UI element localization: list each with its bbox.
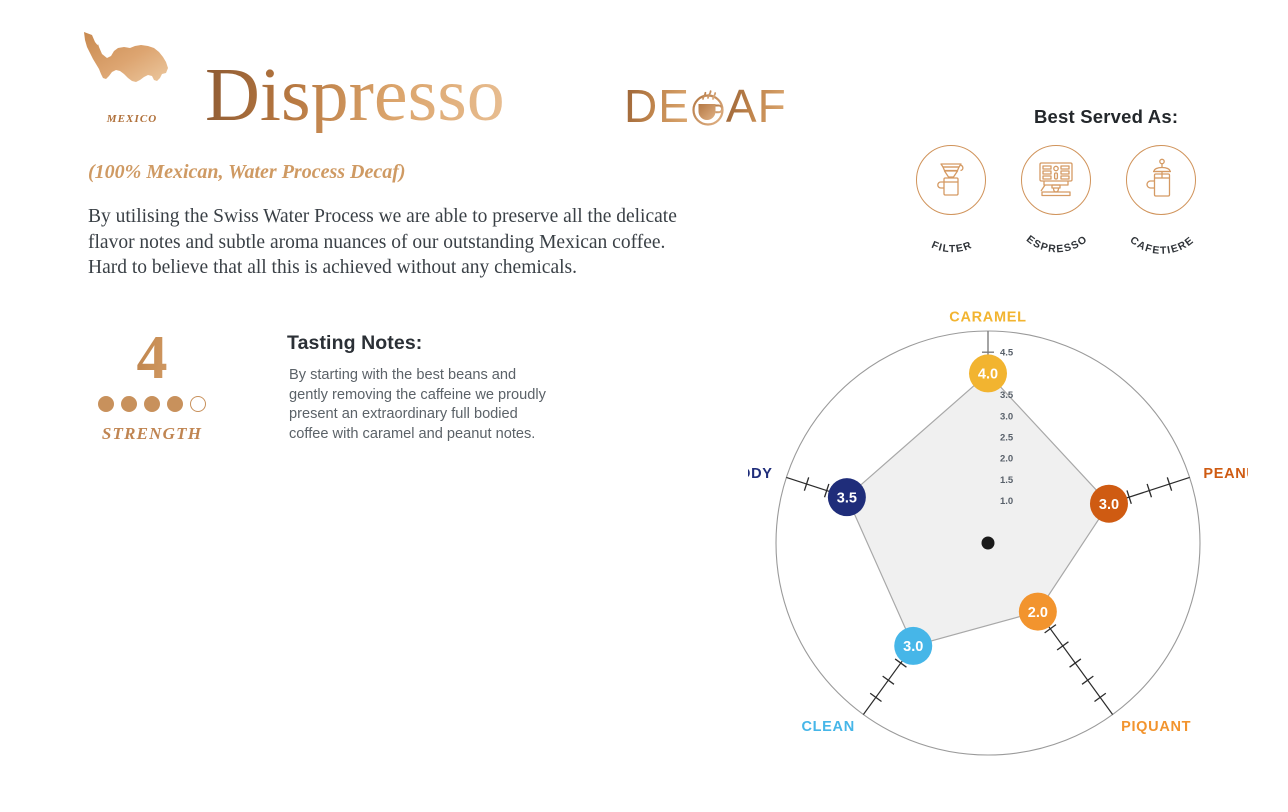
radar-data-area — [847, 373, 1109, 646]
radar-axis-label-peanuts: PEANUTS — [1203, 466, 1248, 482]
radar-value-text: 3.0 — [1099, 497, 1119, 513]
radar-axis-label-clean: CLEAN — [801, 719, 854, 735]
radar-value-text: 3.5 — [837, 490, 857, 506]
tasting-notes-heading: Tasting Notes: — [287, 332, 422, 355]
radar-tick — [1057, 642, 1068, 650]
radar-tick-label: 4.5 — [1000, 348, 1014, 359]
decaf-logo-prefix: DE — [624, 83, 690, 129]
tasting-line-4: coffee with caramel and peanut notes. — [289, 425, 619, 445]
radar-tick-label: 3.5 — [1000, 390, 1014, 401]
decaf-logo-suffix: AF — [726, 83, 787, 129]
svg-text:FILTER: FILTER — [930, 239, 975, 255]
radar-center-dot — [982, 537, 995, 550]
strength-dot-3 — [144, 396, 160, 412]
origin-label: MEXICO — [78, 113, 186, 125]
strength-label: STRENGTH — [88, 424, 216, 444]
description-line-2: flavor notes and subtle aroma nuances of… — [88, 230, 758, 256]
radar-tick-label: 3.0 — [1000, 411, 1013, 422]
radar-value-badge-piquant[interactable]: 2.0 — [1019, 593, 1057, 631]
espresso-machine-icon — [1021, 145, 1091, 215]
radar-value-badge-peanuts[interactable]: 3.0 — [1090, 485, 1128, 523]
served-item-filter[interactable]: FILTER — [910, 145, 994, 257]
radar-tick — [1070, 659, 1081, 667]
tasting-line-2: gently removing the caffeine we proudly — [289, 386, 619, 406]
radar-tick-label: 2.0 — [1000, 454, 1013, 465]
decaf-logo: DE AF — [624, 82, 787, 130]
espresso-label-arc: ESPRESSO — [1009, 215, 1105, 257]
svg-text:ESPRESSO: ESPRESSO — [1024, 233, 1090, 255]
strength-dot-2 — [121, 396, 137, 412]
coffee-cup-icon — [686, 83, 730, 129]
best-served-list: FILTER ESPRESSO — [910, 145, 1215, 260]
cafetiere-label-arc: CAFETIERE — [1114, 215, 1210, 257]
tasting-line-1: By starting with the best beans and — [289, 366, 619, 386]
svg-text:CAFETIERE: CAFETIERE — [1128, 234, 1197, 257]
strength-value: 4 — [88, 330, 216, 386]
radar-value-badge-caramel[interactable]: 4.0 — [969, 354, 1007, 392]
strength-dot-4 — [167, 396, 183, 412]
description-paragraph: By utilising the Swiss Water Process we … — [88, 204, 758, 281]
radar-value-text: 2.0 — [1028, 605, 1048, 621]
brand-subtitle: (100% Mexican, Water Process Decaf) — [88, 161, 406, 184]
radar-axis-label-piquant: PIQUANT — [1121, 719, 1191, 735]
french-press-icon — [1126, 145, 1196, 215]
radar-value-text: 4.0 — [978, 367, 998, 383]
flavor-radar-chart: 1.01.52.02.53.03.54.5 4.03.02.03.03.5 CA… — [748, 296, 1248, 796]
radar-axis-label-caramel: CARAMEL — [949, 310, 1026, 326]
strength-dot-1 — [98, 396, 114, 412]
served-item-cafetiere[interactable]: CAFETIERE — [1120, 145, 1204, 257]
served-label-cafetiere: CAFETIERE — [1128, 234, 1197, 257]
filter-label-arc: FILTER — [904, 215, 1000, 257]
radar-value-badge-clean[interactable]: 3.0 — [894, 627, 932, 665]
served-item-espresso[interactable]: ESPRESSO — [1015, 145, 1099, 257]
radar-tick — [870, 693, 881, 701]
served-label-espresso: ESPRESSO — [1024, 233, 1090, 255]
radar-value-badge-body[interactable]: 3.5 — [828, 478, 866, 516]
radar-tick-label: 1.5 — [1000, 475, 1014, 486]
description-line-3: Hard to believe that all this is achieve… — [88, 255, 758, 281]
strength-dots — [88, 396, 216, 412]
description-line-1: By utilising the Swiss Water Process we … — [88, 204, 758, 230]
radar-tick — [1082, 676, 1093, 684]
radar-tick-label: 1.0 — [1000, 496, 1013, 507]
radar-tick — [883, 676, 894, 684]
radar-axis-label-body: BODY — [748, 466, 773, 482]
served-label-filter: FILTER — [930, 239, 975, 255]
radar-tick-label: 2.5 — [1000, 433, 1014, 444]
radar-value-text: 3.0 — [903, 639, 923, 655]
page-title: Dispresso — [205, 57, 505, 133]
mexico-map-icon — [78, 26, 178, 106]
best-served-heading: Best Served As: — [1034, 106, 1178, 128]
radar-tick — [1094, 693, 1105, 701]
tasting-notes-body: By starting with the best beans and gent… — [289, 366, 619, 444]
strength-dot-5 — [190, 396, 206, 412]
tasting-line-3: present an extraordinary full bodied — [289, 405, 619, 425]
strength-indicator: 4 STRENGTH — [88, 330, 216, 444]
pour-over-filter-icon — [916, 145, 986, 215]
